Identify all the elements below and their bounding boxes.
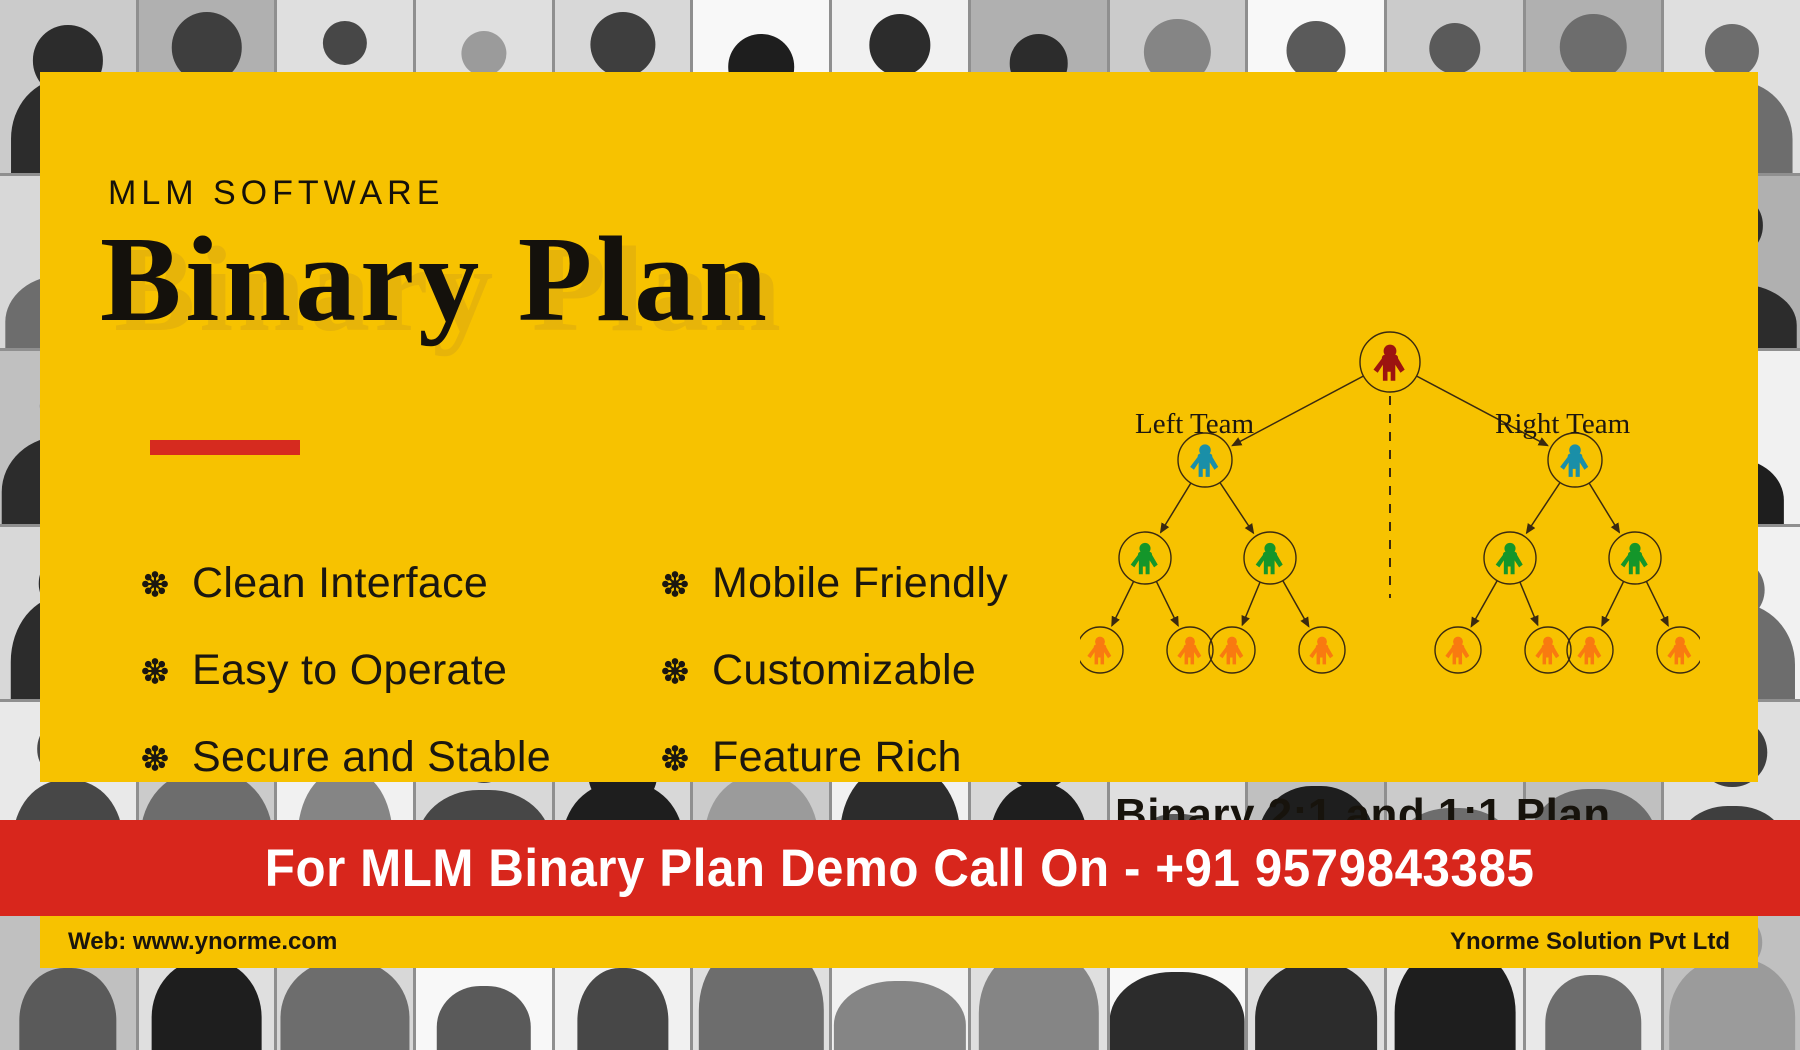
background-portrait-head: [323, 21, 367, 65]
background-portrait-body: [1255, 962, 1377, 1050]
footer-website[interactable]: Web: www.ynorme.com: [68, 928, 337, 956]
binary-tree-diagram: Left Team Right Team: [1080, 330, 1700, 700]
background-portrait-body: [281, 960, 410, 1050]
feature-label: Secure and Stable: [192, 733, 551, 782]
feature-item: Mobile Friendly: [660, 540, 1008, 627]
feature-label: Customizable: [712, 646, 976, 695]
background-portrait-body: [834, 981, 966, 1050]
left-team-label: Left Team: [1135, 408, 1254, 441]
asterisk-flower-icon: [660, 656, 690, 686]
asterisk-flower-icon: [140, 569, 170, 599]
tree-edge: [1646, 581, 1668, 625]
tree-node-tier4-6: [1525, 627, 1571, 673]
tree-edge: [1220, 483, 1254, 534]
feature-label: Feature Rich: [712, 733, 962, 782]
footer-company: Ynorme Solution Pvt Ltd: [1450, 928, 1730, 956]
background-portrait-head: [461, 31, 506, 76]
tree-edge: [1112, 581, 1134, 625]
tree-edge: [1283, 581, 1309, 627]
tree-edge: [1156, 581, 1178, 625]
feature-label: Easy to Operate: [192, 646, 507, 695]
asterisk-flower-icon: [140, 743, 170, 773]
feature-item: Feature Rich: [660, 714, 1008, 801]
tree-node-tier4-5: [1435, 627, 1481, 673]
background-portrait-head: [1429, 23, 1480, 74]
tree-node-tier4-7: [1567, 627, 1613, 673]
eyebrow-text: MLM SOFTWARE: [108, 174, 444, 213]
background-portrait-body: [577, 968, 668, 1050]
tree-node-tier3-2: [1244, 532, 1296, 584]
tree-node-left-leader: [1178, 433, 1232, 487]
background-portrait-head: [590, 12, 655, 77]
background-portrait-head: [1560, 14, 1626, 80]
tree-node-tier4-4: [1299, 627, 1345, 673]
asterisk-flower-icon: [660, 569, 690, 599]
right-team-label: Right Team: [1495, 408, 1630, 441]
background-portrait-head: [1705, 24, 1759, 78]
feature-item: Customizable: [660, 627, 1008, 714]
feature-list-left: Clean InterfaceEasy to OperateSecure and…: [140, 540, 551, 801]
background-portrait-body: [437, 986, 531, 1050]
tree-edge: [1242, 582, 1260, 625]
cta-bar[interactable]: For MLM Binary Plan Demo Call On - +91 9…: [0, 820, 1800, 916]
tree-edge: [1589, 483, 1619, 532]
title-underline-rule: [150, 440, 300, 455]
tree-edge: [1527, 483, 1561, 534]
tree-node-tier4-1: [1080, 627, 1123, 673]
tree-edge: [1520, 582, 1538, 625]
tree-node-tier4-8: [1657, 627, 1700, 673]
tree-node-tier3-3: [1484, 532, 1536, 584]
feature-label: Clean Interface: [192, 559, 488, 608]
feature-label: Mobile Friendly: [712, 559, 1008, 608]
main-yellow-card: MLM SOFTWARE Binary Plan Binary Plan Cle…: [40, 72, 1758, 782]
tree-node-tier3-4: [1609, 532, 1661, 584]
background-portrait-body: [19, 968, 116, 1050]
tree-edge: [1602, 581, 1624, 625]
cta-text: For MLM Binary Plan Demo Call On - +91 9…: [265, 838, 1535, 899]
banner-canvas: MLM SOFTWARE Binary Plan Binary Plan Cle…: [0, 0, 1800, 1050]
asterisk-flower-icon: [140, 656, 170, 686]
binary-tree-svg: [1080, 330, 1700, 700]
tree-edge: [1161, 483, 1191, 532]
feature-list-right: Mobile FriendlyCustomizableFeature Rich: [660, 540, 1008, 801]
background-portrait-body: [1110, 972, 1245, 1050]
footer-strip: Web: www.ynorme.com Ynorme Solution Pvt …: [40, 916, 1758, 968]
background-portrait-body: [151, 960, 262, 1050]
feature-item: Secure and Stable: [140, 714, 551, 801]
page-title-text: Binary Plan: [100, 214, 771, 346]
tree-node-tier3-1: [1119, 532, 1171, 584]
tree-node-tier4-3: [1209, 627, 1255, 673]
tree-node-right-leader: [1548, 433, 1602, 487]
feature-item: Easy to Operate: [140, 627, 551, 714]
tree-node-root: [1360, 332, 1420, 392]
feature-item: Clean Interface: [140, 540, 551, 627]
background-portrait-head: [869, 14, 930, 75]
tree-node-tier4-2: [1167, 627, 1213, 673]
asterisk-flower-icon: [660, 743, 690, 773]
tree-edge: [1471, 581, 1497, 627]
background-portrait-body: [1669, 958, 1795, 1050]
background-portrait-body: [1546, 975, 1641, 1050]
